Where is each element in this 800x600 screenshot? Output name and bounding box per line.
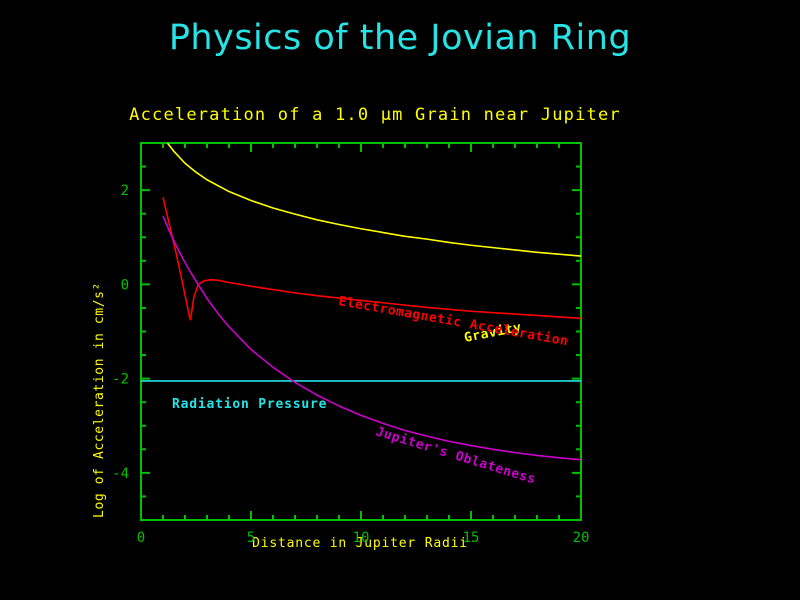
x-tick-label: 15: [463, 530, 480, 546]
x-tick-label: 10: [353, 530, 370, 546]
curve-label-radiation-pressure: Radiation Pressure: [172, 397, 327, 412]
acceleration-plot-figure: Acceleration of a 1.0 μm Grain near Jupi…: [0, 90, 800, 590]
curve-gravity: [167, 143, 581, 256]
x-tick-label: 5: [247, 530, 255, 546]
x-tick-label: 20: [573, 530, 590, 546]
plot-svg: Acceleration of a 1.0 μm Grain near Jupi…: [0, 90, 800, 590]
slide-canvas: Physics of the Jovian Ring Acceleration …: [0, 0, 800, 600]
page-title: Physics of the Jovian Ring: [0, 18, 800, 58]
y-tick-label: -2: [112, 372, 129, 388]
curve-label-electromagnetic: Electromagnetic Acceleration: [337, 294, 569, 349]
axis-tick-labels: 0510152020-2-4: [112, 183, 589, 546]
curve-label-oblateness: Jupiter's Oblateness: [374, 424, 538, 487]
x-tick-label: 0: [137, 530, 145, 546]
y-tick-label: 0: [121, 277, 129, 293]
plot-title: Acceleration of a 1.0 μm Grain near Jupi…: [129, 105, 621, 125]
y-tick-label: 2: [121, 183, 129, 199]
y-axis-label: Log of Acceleration in cm/s²: [92, 282, 107, 518]
y-tick-label: -4: [112, 466, 129, 482]
